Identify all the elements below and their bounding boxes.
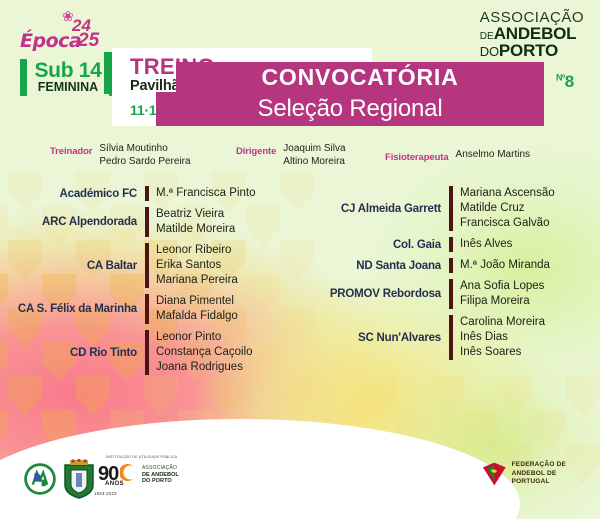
club-row: Académico FC M.ª Francisca Pinto <box>0 186 300 201</box>
org-line-porto: DOPORTO <box>480 42 584 59</box>
poster-root: ❀ 24 Época 25 Sub 14 FEMININA TREINO Pav… <box>0 0 600 519</box>
club-divider-bar <box>449 237 453 252</box>
anniversary-word: ANOS <box>105 481 124 487</box>
staff-name: Pedro Sardo Pereira <box>99 156 190 169</box>
convocation-number: Nº8 <box>556 72 574 92</box>
aap-crest-icon <box>24 463 56 495</box>
anniversary-org-line2: DE ANDEBOL <box>142 472 179 478</box>
club-players: Diana Pimentel Mafalda Fidalgo <box>156 294 296 324</box>
club-divider-bar <box>449 186 453 231</box>
staff-fisioterapeuta: Fisioterapeuta Anselmo Martins <box>385 149 530 163</box>
anniversary-logo: INSTITUIÇÃO DE UTILIDADE PÚBLICA 90 ANOS… <box>62 455 182 499</box>
club-row: CD Rio Tinto Leonor Pinto Constança Caço… <box>0 330 300 375</box>
club-players: Mariana Ascensão Matilde Cruz Francisca … <box>460 186 600 231</box>
player-name: Inês Alves <box>460 237 600 252</box>
club-divider-bar <box>145 294 149 324</box>
number-value: 8 <box>565 72 574 91</box>
bracket-left-icon <box>20 59 27 96</box>
club-row: Col. Gaia Inês Alves <box>300 237 600 252</box>
org-do: DO <box>480 44 499 59</box>
club-name: CD Rio Tinto <box>0 347 145 359</box>
number-prefix: Nº <box>556 72 565 82</box>
staff-name: Sílvia Moutinho <box>99 143 190 156</box>
player-name: Inês Dias <box>460 330 600 345</box>
player-name: Leonor Ribeiro <box>156 243 296 258</box>
club-players: Inês Alves <box>460 237 600 252</box>
org-line-associacao: ASSOCIAÇÃO <box>480 10 584 25</box>
player-name: Erika Santos <box>156 258 296 273</box>
player-name: Beatriz Vieira <box>156 207 296 222</box>
club-divider-bar <box>145 243 149 288</box>
player-name: Matilde Moreira <box>156 222 296 237</box>
staff-role-label: Dirigente <box>236 143 276 157</box>
category-subtitle: FEMININA <box>34 81 101 94</box>
staff-name: Altino Moreira <box>283 156 345 169</box>
federation-shield-icon <box>482 461 507 487</box>
club-players: Beatriz Vieira Matilde Moreira <box>156 207 296 237</box>
player-name: Ana Sofia Lopes <box>460 279 600 294</box>
category-title: Sub 14 <box>34 60 101 81</box>
player-name: Francisca Galvão <box>460 216 600 231</box>
club-players: M.ª João Miranda <box>460 258 600 273</box>
club-row: PROMOV Rebordosa Ana Sofia Lopes Filipa … <box>300 279 600 309</box>
club-name: CA Baltar <box>0 260 145 272</box>
selecao-subtitle: Seleção Regional <box>258 95 443 123</box>
club-divider-bar <box>145 207 149 237</box>
club-column-left: Académico FC M.ª Francisca Pinto ARC Alp… <box>0 186 300 381</box>
staff-role-label: Treinador <box>50 143 92 157</box>
club-divider-bar <box>449 279 453 309</box>
anniversary-org-line1: ASSOCIAÇÃO <box>142 466 179 472</box>
footer: INSTITUIÇÃO DE UTILIDADE PÚBLICA 90 ANOS… <box>0 429 600 519</box>
club-lists: Académico FC M.ª Francisca Pinto ARC Alp… <box>0 186 600 416</box>
club-name: ARC Alpendorada <box>0 216 145 228</box>
club-divider-bar <box>449 315 453 360</box>
federation-name: FEDERAÇÃO DE ANDEBOL DE PORTUGAL <box>512 461 592 487</box>
club-row: SC Nun'Alvares Carolina Moreira Inês Dia… <box>300 315 600 360</box>
club-name: PROMOV Rebordosa <box>319 288 449 300</box>
player-name: M.ª João Miranda <box>460 258 600 273</box>
club-divider-bar <box>145 186 149 201</box>
convocatoria-title: CONVOCATÓRIA <box>261 64 458 91</box>
staff-treinador: Treinador Sílvia Moutinho Pedro Sardo Pe… <box>50 143 191 169</box>
staff-names: Anselmo Martins <box>456 149 530 162</box>
staff-names: Sílvia Moutinho Pedro Sardo Pereira <box>99 143 190 169</box>
staff-row: Treinador Sílvia Moutinho Pedro Sardo Pe… <box>0 143 600 175</box>
staff-dirigente: Dirigente Joaquim Silva Altino Moreira <box>236 143 346 169</box>
epoca-year-end: 25 <box>78 30 99 52</box>
club-name: SC Nun'Alvares <box>319 332 449 344</box>
club-name: Académico FC <box>0 188 145 200</box>
staff-name: Joaquim Silva <box>283 143 345 156</box>
club-players: Carolina Moreira Inês Dias Inês Soares <box>460 315 600 360</box>
club-row: CA Baltar Leonor Ribeiro Erika Santos Ma… <box>0 243 300 288</box>
anniversary-top-text: INSTITUIÇÃO DE UTILIDADE PÚBLICA <box>106 455 177 459</box>
convocatoria-banner: CONVOCATÓRIA <box>176 62 544 92</box>
player-name: Mariana Pereira <box>156 273 296 288</box>
federation-line1: FEDERAÇÃO DE <box>512 461 592 470</box>
club-players: M.ª Francisca Pinto <box>156 186 296 201</box>
club-name: ND Santa Joana <box>319 260 449 272</box>
player-name: Diana Pimentel <box>156 294 296 309</box>
staff-names: Joaquim Silva Altino Moreira <box>283 143 345 169</box>
club-name: Col. Gaia <box>319 239 449 251</box>
anniversary-swoosh-icon <box>120 464 135 481</box>
club-players: Leonor Pinto Constança Caçoilo Joana Rod… <box>156 330 296 375</box>
anniversary-years: 1933-2023 <box>94 491 117 496</box>
staff-name: Anselmo Martins <box>456 149 530 162</box>
player-name: Mafalda Fidalgo <box>156 309 296 324</box>
player-name: Leonor Pinto <box>156 330 296 345</box>
club-divider-bar <box>145 330 149 375</box>
club-row: CJ Almeida Garrett Mariana Ascensão Mati… <box>300 186 600 231</box>
organization-wordmark: ASSOCIAÇÃO DEANDEBOL DOPORTO <box>480 10 584 59</box>
epoca-word: Época <box>20 30 81 52</box>
club-players: Leonor Ribeiro Erika Santos Mariana Pere… <box>156 243 296 288</box>
player-name: Inês Soares <box>460 345 600 360</box>
porto-shield-icon <box>62 459 96 499</box>
selecao-banner: Seleção Regional <box>156 92 544 126</box>
club-name: CA S. Félix da Marinha <box>0 303 145 315</box>
player-name: Joana Rodrigues <box>156 360 296 375</box>
club-divider-bar <box>449 258 453 273</box>
federation-line2: ANDEBOL DE PORTUGAL <box>512 470 592 488</box>
org-porto: PORTO <box>499 41 558 60</box>
org-line-andebol: DEANDEBOL <box>480 25 584 42</box>
anniversary-org-line3: DO PORTO <box>142 478 179 484</box>
club-row: CA S. Félix da Marinha Diana Pimentel Ma… <box>0 294 300 324</box>
player-name: Filipa Moreira <box>460 294 600 309</box>
club-row: ARC Alpendorada Beatriz Vieira Matilde M… <box>0 207 300 237</box>
player-name: Matilde Cruz <box>460 201 600 216</box>
org-de: DE <box>480 31 494 42</box>
club-row: ND Santa Joana M.ª João Miranda <box>300 258 600 273</box>
player-name: Constança Caçoilo <box>156 345 296 360</box>
club-players: Ana Sofia Lopes Filipa Moreira <box>460 279 600 309</box>
club-name: CJ Almeida Garrett <box>319 203 449 215</box>
green-accent-tab <box>104 52 112 94</box>
club-column-right: CJ Almeida Garrett Mariana Ascensão Mati… <box>300 186 600 366</box>
staff-role-label: Fisioterapeuta <box>385 149 449 163</box>
player-name: M.ª Francisca Pinto <box>156 186 296 201</box>
player-name: Carolina Moreira <box>460 315 600 330</box>
player-name: Mariana Ascensão <box>460 186 600 201</box>
federation-logo: FEDERAÇÃO DE ANDEBOL DE PORTUGAL <box>482 459 592 489</box>
